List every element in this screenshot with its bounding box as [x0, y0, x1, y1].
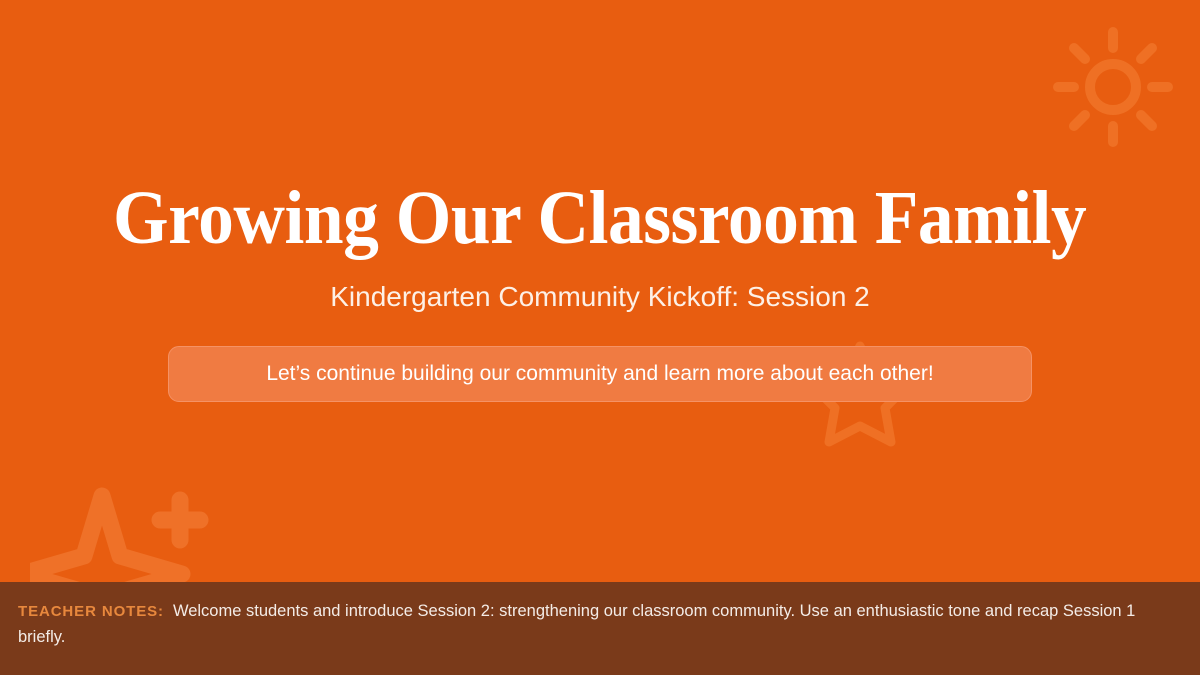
- slide-subtitle: Kindergarten Community Kickoff: Session …: [330, 280, 870, 314]
- teacher-notes-label: TEACHER NOTES:: [18, 603, 164, 620]
- teacher-notes-content: TEACHER NOTES:Welcome students and intro…: [18, 599, 1178, 650]
- slide-content: Growing Our Classroom Family Kindergarte…: [0, 0, 1200, 582]
- page-title: Growing Our Classroom Family: [113, 180, 1086, 256]
- callout-box: Let’s continue building our community an…: [168, 346, 1032, 402]
- slide-canvas: Growing Our Classroom Family Kindergarte…: [0, 0, 1200, 675]
- callout-text: Let’s continue building our community an…: [266, 361, 933, 387]
- teacher-notes-bar: TEACHER NOTES:Welcome students and intro…: [0, 582, 1200, 675]
- teacher-notes-text: Welcome students and introduce Session 2…: [18, 602, 1135, 646]
